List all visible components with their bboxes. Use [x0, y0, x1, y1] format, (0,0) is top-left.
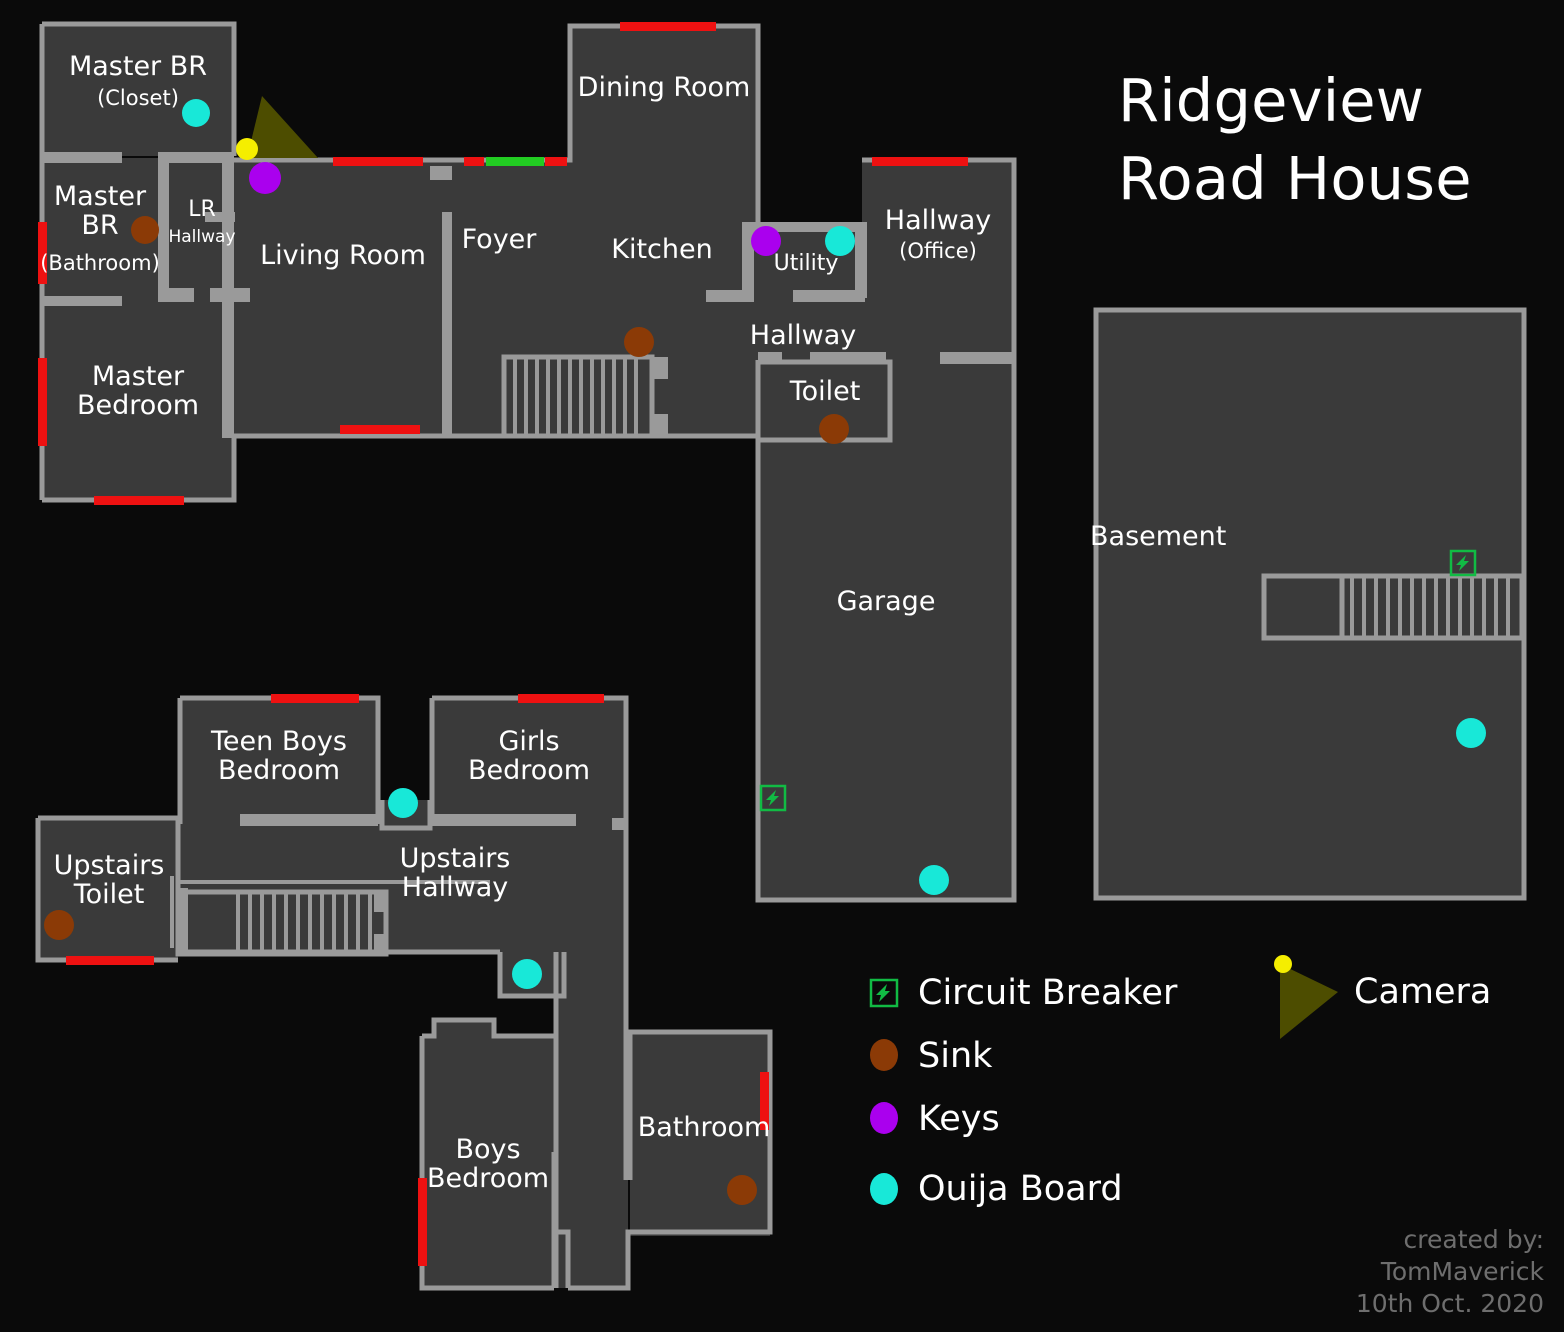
sink-dot-icon-upstairs-toilet — [44, 910, 74, 940]
legend-label-circuit-breaker: Circuit Breaker — [918, 973, 1177, 1013]
legend-camera-dot-icon — [1274, 955, 1292, 973]
window-foyer-north-b — [545, 157, 567, 166]
credits-text: created by: TomMaverick 10th Oct. 2020 — [1356, 1224, 1544, 1320]
stairs-upstairs-post-top — [374, 892, 388, 912]
stairs-upstairs-post-bottom — [374, 934, 388, 954]
partition-closet-bathroom-a — [42, 152, 122, 163]
partition-bathroom-south — [42, 296, 122, 306]
floor-girls-bedroom — [432, 698, 626, 824]
camera-dot-icon — [236, 138, 258, 160]
front-door-foyer — [486, 157, 544, 166]
window-boys-bedroom-west — [418, 1178, 427, 1266]
window-foyer-north-a — [464, 157, 484, 166]
floor-master-br-closet — [42, 24, 234, 156]
partition-girls-south — [432, 814, 576, 826]
stairs-main-post-top — [650, 357, 668, 379]
legend-sink-dot-icon — [870, 1039, 898, 1071]
keys-dot-icon-living-room — [249, 162, 281, 194]
floor-living-room — [234, 160, 450, 436]
ouija-dot-icon-utility — [825, 226, 855, 256]
sink-dot-icon-toilet — [819, 414, 849, 444]
sink-dot-icon-bathroom — [727, 1175, 757, 1205]
partition-foyer-west — [442, 212, 452, 438]
legend-label-sink: Sink — [918, 1036, 992, 1076]
window-living-room-south — [340, 425, 420, 434]
stairs-main-post-bottom — [650, 414, 668, 436]
legend-label-camera: Camera — [1354, 972, 1491, 1012]
floor-teen-boys-bedroom — [180, 698, 378, 824]
legend-label-keys: Keys — [918, 1099, 1000, 1139]
sink-dot-icon-kitchen — [624, 327, 654, 357]
floor-dining-room — [570, 26, 758, 162]
ouija-dot-icon-upstairs-alcove — [512, 959, 542, 989]
partition-utility-east — [855, 222, 867, 298]
partition-living-room-west — [222, 212, 234, 438]
partition-hallway-south-c — [940, 352, 1016, 364]
floor-hallway — [758, 298, 1014, 360]
floor-master-bedroom — [42, 300, 234, 500]
ouija-dot-icon-upstairs-hallway — [388, 788, 418, 818]
window-master-bedroom-west — [38, 358, 47, 446]
page-title: Ridgeview Road House — [1118, 62, 1472, 218]
partition-foyer-north-stub — [430, 166, 452, 180]
legend-ouija-dot-icon — [870, 1173, 898, 1205]
partition-utility-south — [793, 290, 865, 302]
partition-utility-west — [742, 222, 754, 298]
legend-label-ouija-board: Ouija Board — [918, 1169, 1123, 1209]
partition-upstairs-ne-corner — [612, 818, 628, 830]
ouija-dot-icon-basement — [1456, 718, 1486, 748]
legend-keys-dot-icon — [870, 1102, 898, 1134]
floor-boys-bedroom — [422, 1036, 554, 1288]
window-bathroom-east — [760, 1072, 769, 1130]
partition-teen-boys-south — [240, 814, 378, 826]
keys-dot-icon-utility — [751, 226, 781, 256]
window-upstairs-toilet-south — [66, 956, 154, 965]
partition-hall-foot-w — [158, 288, 194, 302]
partition-lr-hall-west — [158, 152, 169, 300]
window-master-bedroom-south — [94, 496, 184, 505]
window-girls-north — [518, 694, 604, 703]
window-office-north — [872, 157, 968, 166]
ouija-dot-icon-garage — [919, 865, 949, 895]
floor-boys-bedroom-closet — [434, 1020, 494, 1044]
partition-kitchen-south — [706, 290, 754, 302]
window-living-room-north — [333, 157, 423, 166]
window-master-bathroom-west — [38, 222, 47, 284]
sink-dot-icon-master-bathroom — [131, 216, 159, 244]
window-teen-boys-north — [271, 694, 359, 703]
floorplan-map: Ridgeview Road House Master BR (Closet) … — [0, 0, 1564, 1332]
window-dining-room-north — [620, 22, 716, 31]
ouija-dot-icon-master-closet — [182, 99, 210, 127]
basement-group — [1096, 310, 1524, 898]
floor-bathroom — [630, 1032, 770, 1236]
